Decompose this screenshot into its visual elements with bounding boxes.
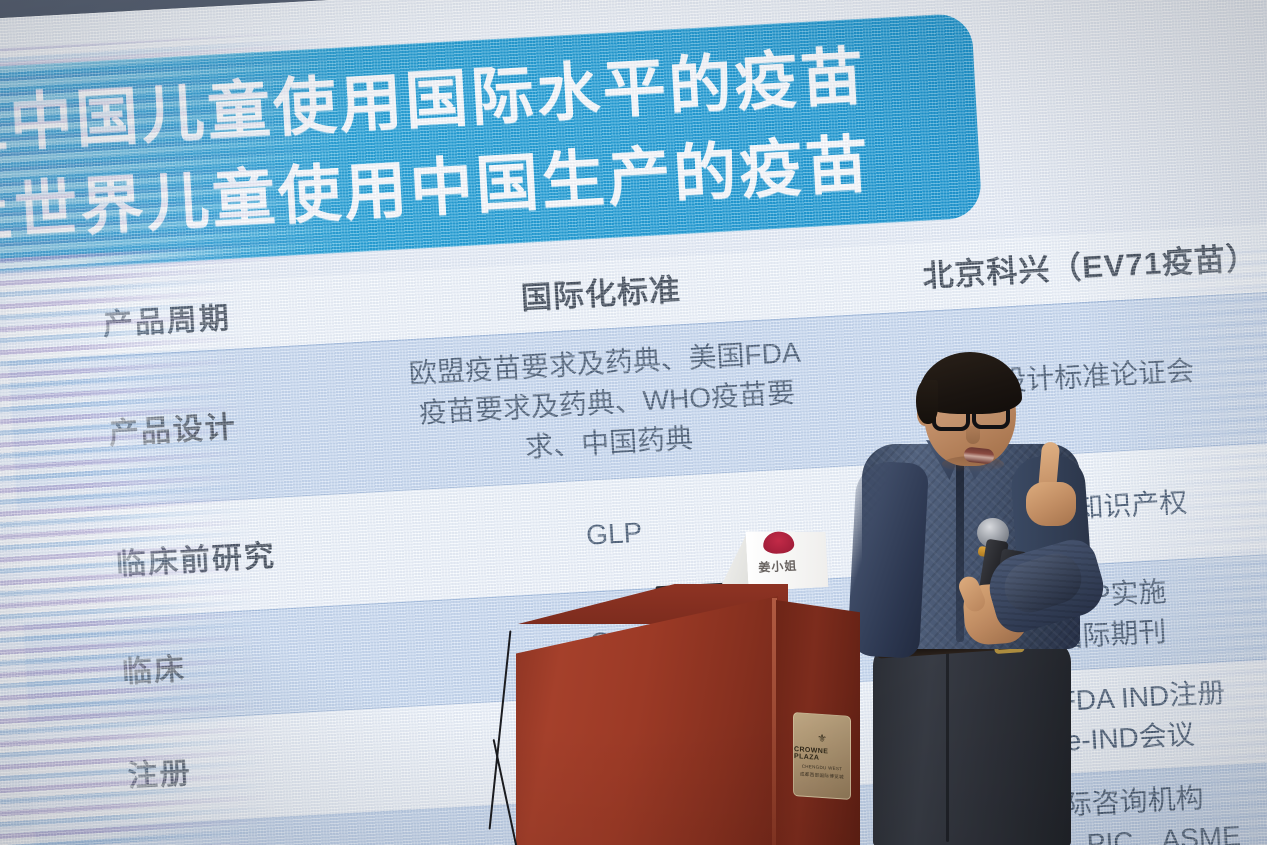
cell-stage: 厂房建设 bbox=[36, 841, 398, 845]
plaque-brand: CROWNE PLAZA bbox=[794, 746, 850, 764]
speaker-person bbox=[838, 352, 1138, 845]
plaque-location: CHENGDU WEST bbox=[802, 763, 843, 771]
cell-stage: 注册 bbox=[31, 737, 393, 801]
name-card-text: 姜小姐 bbox=[758, 557, 798, 576]
closed-fist bbox=[1026, 482, 1076, 526]
venue-brand-plaque: ⚜ CROWNE PLAZA CHENGDU WEST 成都西部国际博览城 bbox=[793, 712, 851, 800]
raised-hand bbox=[1024, 446, 1080, 516]
shirt-placket bbox=[956, 462, 964, 642]
lectern-podium: 姜小姐 ⚜ CROWNE PLAZA CHENGDU WEST 成都西部国际博览… bbox=[508, 560, 853, 845]
cell-stage: 产品设计 bbox=[12, 394, 374, 458]
cell-standard: 欧盟疫苗要求及药典、美国FDA 疫苗要求及药典、WHO疫苗要 求、中国药典 bbox=[369, 331, 845, 477]
cell-standard: 国际化标准 bbox=[365, 262, 836, 328]
crown-logo-icon: ⚜ bbox=[817, 733, 827, 745]
podium-front-panel bbox=[516, 596, 778, 845]
cell-stage: 临床 bbox=[25, 633, 387, 697]
cell-sinovac: 北京科兴（EV71疫苗） bbox=[835, 234, 1267, 302]
slide-headline-banner: 让中国儿童使用国际水平的疫苗 让世界儿童使用中国生产的疫苗 bbox=[0, 13, 982, 275]
cell-stage: 产品周期 bbox=[6, 285, 368, 349]
trousers bbox=[873, 640, 1071, 845]
cell-stage: 临床前研究 bbox=[19, 525, 381, 589]
trouser-crease bbox=[946, 652, 949, 842]
stage-photo-scene: 让中国儿童使用国际水平的疫苗 让世界儿童使用中国生产的疫苗 产品周期 国际化标准… bbox=[0, 0, 1267, 845]
hair-sideburn bbox=[916, 380, 938, 424]
plaque-location-cn: 成都西部国际博览城 bbox=[800, 771, 844, 780]
